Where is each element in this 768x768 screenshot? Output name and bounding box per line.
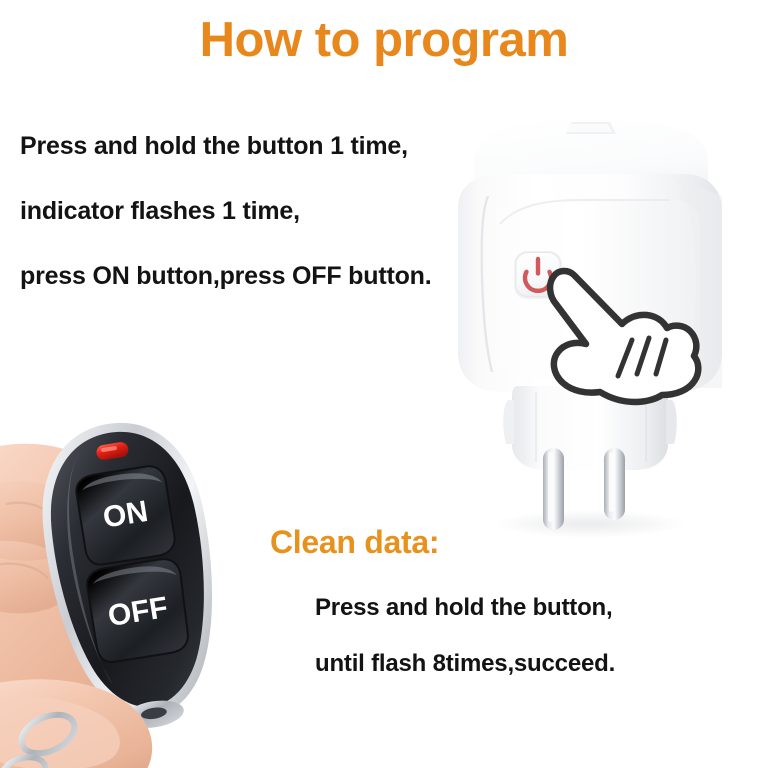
program-step-line-2: indicator flashes 1 time, bbox=[20, 199, 490, 224]
on-button[interactable]: ON bbox=[74, 464, 177, 567]
program-steps-block: Press and hold the button 1 time, indica… bbox=[20, 134, 490, 329]
off-button[interactable]: OFF bbox=[85, 557, 193, 665]
clean-data-steps-block: Press and hold the button, until flash 8… bbox=[315, 596, 755, 708]
glove-outline bbox=[550, 271, 698, 402]
program-step-line-1: Press and hold the button 1 time, bbox=[20, 134, 490, 159]
pointing-hand-cursor bbox=[536, 262, 726, 438]
instruction-graphic-page: How to program Press and hold the button… bbox=[0, 0, 768, 768]
clean-data-heading: Clean data: bbox=[270, 524, 439, 561]
program-step-line-3: press ON button,press OFF button. bbox=[20, 264, 490, 289]
page-title: How to program bbox=[0, 14, 768, 68]
clean-data-line-1: Press and hold the button, bbox=[315, 596, 755, 620]
plug-prong-left bbox=[543, 448, 564, 530]
rf-remote-control: ON OFF bbox=[0, 400, 322, 768]
clean-data-line-2: until flash 8times,succeed. bbox=[315, 652, 755, 676]
on-button-label: ON bbox=[101, 495, 151, 535]
plug-prong-right bbox=[604, 448, 625, 520]
